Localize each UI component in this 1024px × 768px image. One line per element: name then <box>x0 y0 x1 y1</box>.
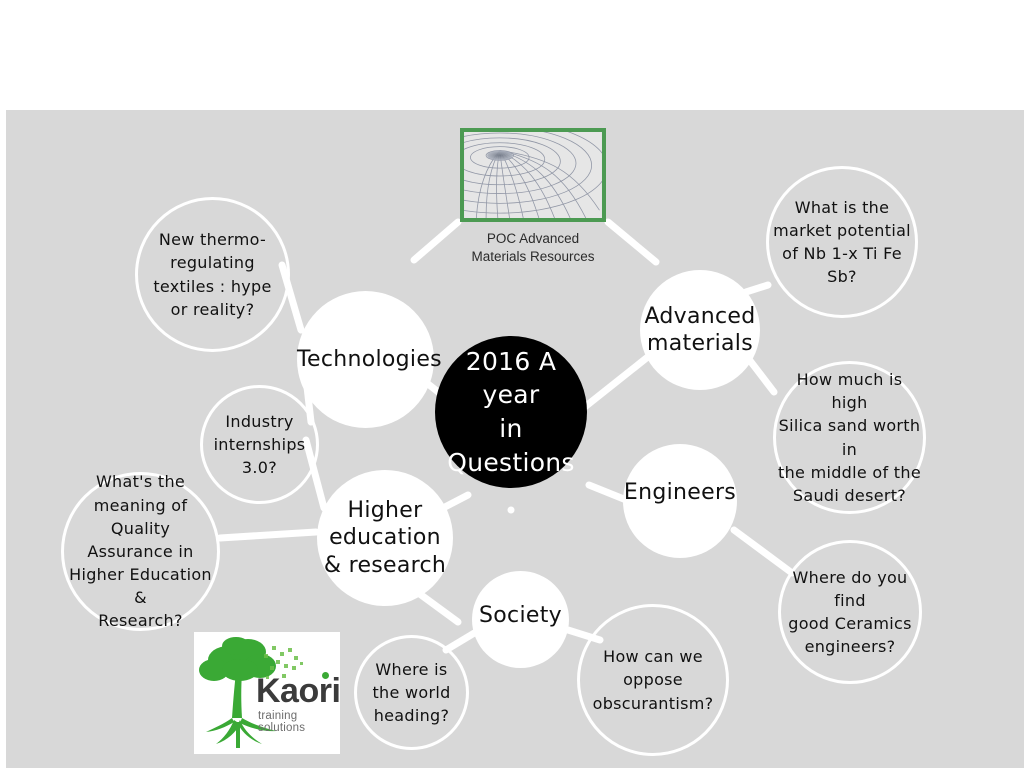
question-node-quality-assurance[interactable]: What's the meaning of Quality Assurance … <box>61 472 220 631</box>
topic-label-engineers: Engineers <box>623 479 737 507</box>
kaori-logo-dot <box>322 672 329 679</box>
poc-image-card <box>460 128 606 222</box>
wireframe-globe-icon <box>464 132 602 218</box>
kaori-tagline: training solutions <box>258 710 340 734</box>
question-label-silica-sand: How much is high Silica sand worth in th… <box>776 368 923 507</box>
question-label-nb-ti-fe-sb: What is the market potential of Nb 1-x T… <box>769 196 915 289</box>
topic-node-technologies[interactable]: Technologies <box>297 291 434 428</box>
question-node-nb-ti-fe-sb[interactable]: What is the market potential of Nb 1-x T… <box>766 166 918 318</box>
topic-node-advanced-materials[interactable]: Advanced materials <box>640 270 760 390</box>
question-label-quality-assurance: What's the meaning of Quality Assurance … <box>64 470 217 632</box>
question-label-ceramics-engineers: Where do you find good Ceramics engineer… <box>781 566 919 659</box>
hub-label: 2016 A year in Questions <box>435 345 587 480</box>
question-node-industry-internships[interactable]: Industry internships 3.0? <box>200 385 319 504</box>
question-label-thermo-textiles: New thermo- regulating textiles : hype o… <box>138 228 287 321</box>
question-node-silica-sand[interactable]: How much is high Silica sand worth in th… <box>773 361 926 514</box>
mindmap-canvas-page: POC Advanced Materials Resources <box>0 0 1024 768</box>
hub-node-2016-a-year-in-questions[interactable]: 2016 A year in Questions <box>435 336 587 488</box>
question-label-world-heading: Where is the world heading? <box>357 658 466 728</box>
mindmap-canvas: POC Advanced Materials Resources <box>6 110 1024 768</box>
topic-node-engineers[interactable]: Engineers <box>623 444 737 558</box>
topic-label-higher-education: Higher education & research <box>317 497 453 580</box>
topic-label-advanced-materials: Advanced materials <box>640 303 760 358</box>
topic-node-higher-education[interactable]: Higher education & research <box>317 470 453 606</box>
topic-label-technologies: Technologies <box>297 346 434 374</box>
topic-node-society[interactable]: Society <box>472 571 569 668</box>
question-label-industry-internships: Industry internships 3.0? <box>203 410 316 480</box>
question-node-world-heading[interactable]: Where is the world heading? <box>354 635 469 750</box>
kaori-wordmark: Kaori <box>256 674 340 708</box>
topic-label-society: Society <box>472 602 569 630</box>
question-label-obscurantism: How can we oppose obscurantism? <box>580 645 726 715</box>
poc-image-caption: POC Advanced Materials Resources <box>430 230 636 266</box>
question-node-obscurantism[interactable]: How can we oppose obscurantism? <box>577 604 729 756</box>
kaori-logo-card: Kaori training solutions <box>194 632 340 754</box>
question-node-ceramics-engineers[interactable]: Where do you find good Ceramics engineer… <box>778 540 922 684</box>
question-node-thermo-textiles[interactable]: New thermo- regulating textiles : hype o… <box>135 197 290 352</box>
